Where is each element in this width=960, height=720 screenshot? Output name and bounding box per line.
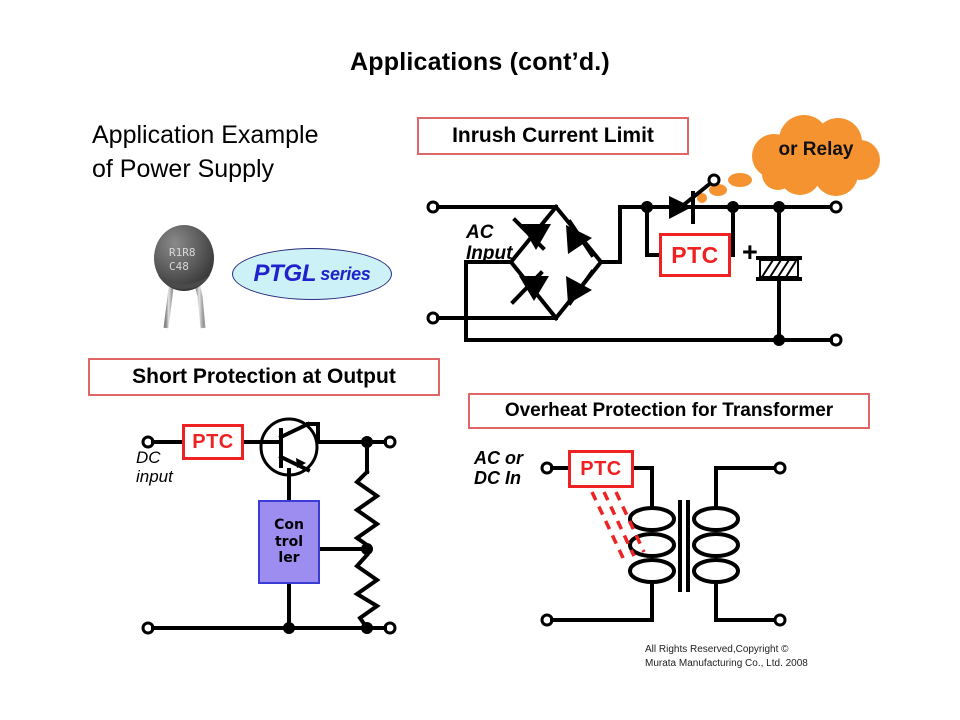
overheat-protection-circuit <box>0 0 960 720</box>
primary-top-lead <box>634 468 652 508</box>
transformer-secondary-winding <box>694 508 738 582</box>
copyright-notice: All Rights Reserved,Copyright © Murata M… <box>645 643 808 670</box>
relay-callout-label: or Relay <box>756 130 876 170</box>
transformer-core <box>680 500 688 592</box>
secondary-bottom-lead <box>716 586 775 620</box>
ac-dc-input-label: AC or DC In <box>474 448 523 488</box>
transformer-output-terminal-bottom <box>775 615 785 625</box>
slide-canvas: Applications (cont’d.) Application Examp… <box>0 0 960 720</box>
secondary-top-lead <box>716 468 775 508</box>
primary-bottom-lead <box>552 586 652 620</box>
transformer-output-terminal-top <box>775 463 785 473</box>
ptc-component-transformer: PTC <box>568 450 634 488</box>
transformer-primary-winding <box>630 508 674 582</box>
